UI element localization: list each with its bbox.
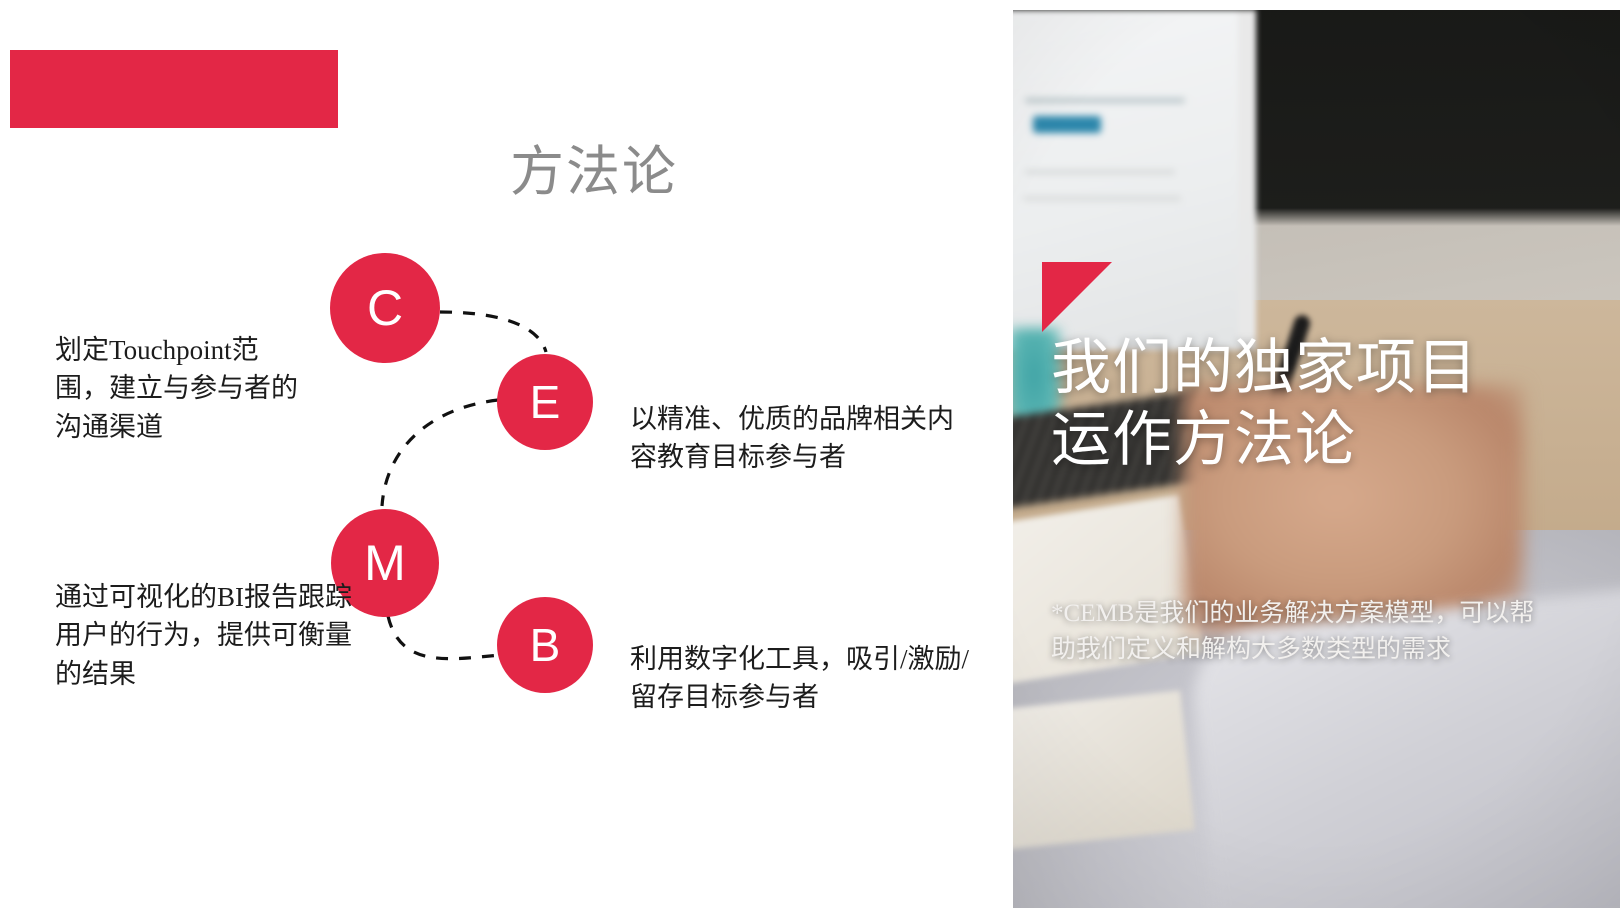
node-circle-e[interactable]: E	[497, 354, 593, 450]
node-description-c: 划定Touchpoint范围，建立与参与者的沟通渠道	[55, 331, 300, 446]
panel-heading: 我们的独家项目 运作方法论	[1051, 332, 1591, 476]
accent-bar	[10, 50, 338, 128]
node-circle-b[interactable]: B	[497, 597, 593, 693]
page-title: 方法论	[510, 143, 678, 202]
photo-panel: 我们的独家项目 运作方法论 *CEMB是我们的业务解决方案模型，可以帮助我们定义…	[1013, 10, 1620, 908]
node-description-e: 以精准、优质的品牌相关内容教育目标参与者	[630, 400, 980, 477]
triangle-accent-icon	[1042, 262, 1112, 332]
panel-heading-line-1: 我们的独家项目	[1051, 332, 1591, 404]
node-circle-c[interactable]: C	[330, 253, 440, 363]
node-letter-c: C	[367, 279, 403, 337]
connector-e-to-m	[382, 400, 498, 506]
node-description-m: 通过可视化的BI报告跟踪用户的行为，提供可衡量的结果	[55, 578, 360, 693]
connector-m-to-b	[388, 616, 500, 659]
node-letter-m: M	[364, 534, 406, 592]
node-letter-e: E	[530, 375, 561, 429]
panel-footnote: *CEMB是我们的业务解决方案模型，可以帮助我们定义和解构大多数类型的需求	[1051, 596, 1551, 669]
panel-heading-line-2: 运作方法论	[1051, 404, 1591, 476]
node-letter-b: B	[530, 618, 561, 672]
presentation-slide: 方法论 C E M B 划定Touchpoint范围，建立与参与者的沟通渠道 以…	[0, 0, 1620, 920]
connector-c-to-e	[440, 312, 546, 352]
node-description-b: 利用数字化工具，吸引/激励/留存目标参与者	[630, 640, 970, 717]
